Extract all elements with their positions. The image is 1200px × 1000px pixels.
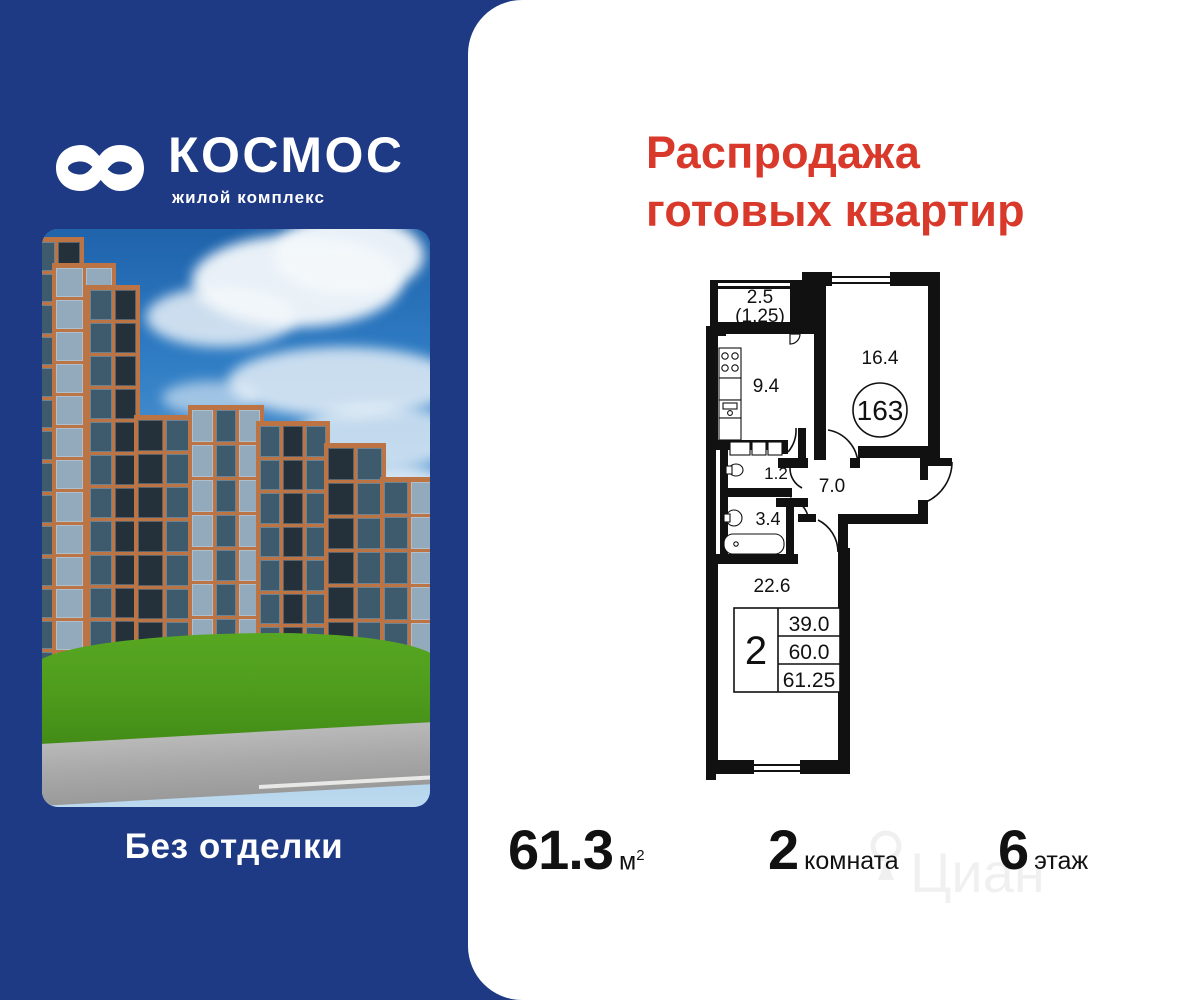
room-area-wc: 1.2 [764, 464, 788, 483]
room-area-kitchen: 9.4 [753, 376, 780, 397]
finishing-caption: Без отделки [0, 827, 468, 867]
stat-rooms-value: 2 [768, 822, 798, 878]
floorplan-container: 2.5 (1.25) 9.4 16.4 1.2 7.0 3.4 22.6 163 [690, 252, 990, 812]
floorplan-drawing: 2.5 (1.25) 9.4 16.4 1.2 7.0 3.4 22.6 163 [690, 252, 990, 812]
room-area-bathroom: 3.4 [755, 509, 780, 529]
stat-area: 61.3 м2 [508, 822, 645, 878]
cloud-shape [146, 287, 296, 347]
info-rooms-count: 2 [745, 629, 767, 673]
room-area-balcony-counted: (1.25) [735, 306, 785, 327]
room-area-hall: 7.0 [819, 476, 845, 497]
stat-floor-value: 6 [998, 822, 1028, 878]
stat-area-unit: м2 [619, 848, 645, 874]
stat-floor: 6 этаж [998, 822, 1088, 878]
brand-name: КОСМОС [168, 130, 405, 180]
info-total-area: 60.0 [789, 641, 830, 664]
stat-floor-unit: этаж [1034, 849, 1088, 874]
promo-heading-line1: Распродажа [646, 127, 920, 178]
stat-rooms: 2 комната [768, 822, 899, 878]
room-area-bedroom: 22.6 [754, 576, 791, 597]
building-photo [42, 229, 430, 807]
brand-subtitle: жилой комплекс [172, 189, 405, 206]
apartment-number: 163 [857, 395, 904, 426]
left-blue-panel: КОСМОС жилой комплекс [0, 0, 468, 1000]
info-total-area-with-balcony: 61.25 [783, 669, 836, 692]
promo-heading: Распродажа готовых квартир [646, 124, 1166, 239]
brand-text: КОСМОС жилой комплекс [168, 130, 405, 206]
stats-row: 61.3 м2 2 комната 6 этаж [468, 812, 1200, 904]
room-area-living-room: 16.4 [862, 348, 899, 369]
right-white-panel: Распродажа готовых квартир [468, 0, 1200, 1000]
brand-block: КОСМОС жилой комплекс [52, 122, 442, 214]
info-living-area: 39.0 [789, 613, 830, 636]
promo-heading-line2: готовых квартир [646, 182, 1166, 240]
apartment-number-badge: 163 [853, 383, 907, 437]
plan-info-box: 2 39.0 60.0 61.25 [734, 608, 840, 692]
stat-rooms-unit: комната [804, 849, 899, 874]
stat-area-value: 61.3 [508, 822, 613, 878]
infinity-loop-icon [52, 136, 148, 200]
room-area-balcony: 2.5 [747, 287, 773, 308]
